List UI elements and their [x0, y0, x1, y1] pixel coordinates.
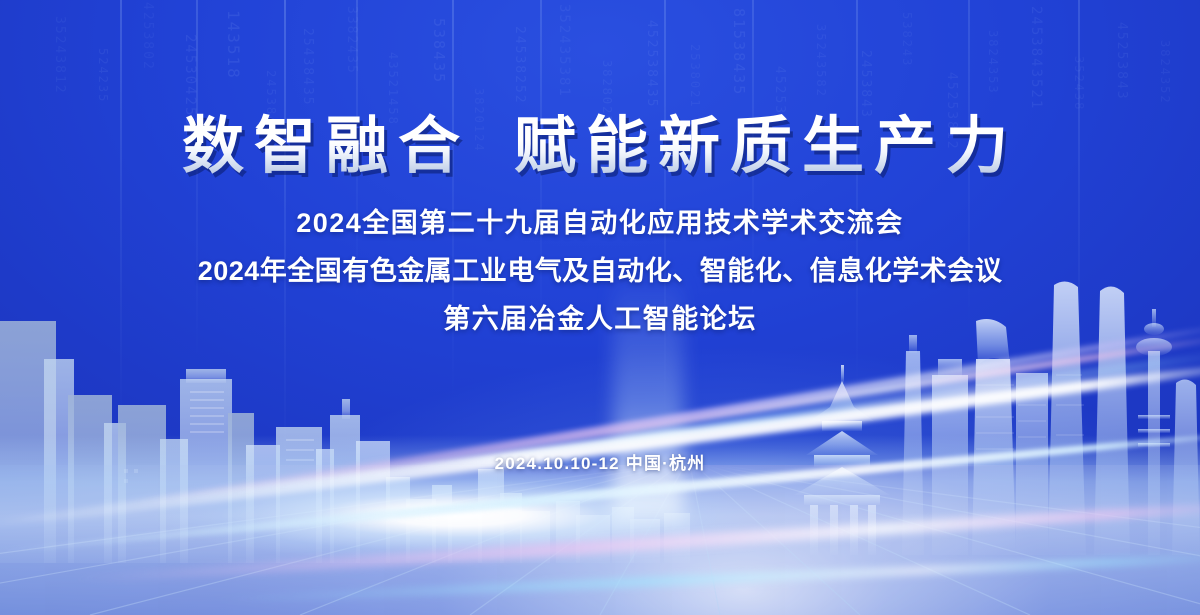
banner-content: 数智融合 赋能新质生产力 2024全国第二十九届自动化应用技术学术交流会 202…	[0, 0, 1200, 615]
conference-banner: 3524381252423542538022453042538143518245…	[0, 0, 1200, 615]
subtitle-line-2: 2024年全国有色金属工业电气及自动化、智能化、信息化学术会议	[198, 249, 1003, 288]
subtitle-line-1: 2024全国第二十九届自动化应用技术学术交流会	[296, 201, 904, 240]
date-location-text: 2024.10.10-12 中国·杭州	[0, 449, 1200, 474]
banner-headline: 数智融合 赋能新质生产力	[182, 112, 1018, 181]
subtitle-line-3: 第六届冶金人工智能论坛	[443, 297, 757, 336]
headline-phrase-1: 数智融合	[182, 112, 470, 181]
headline-phrase-2: 赋能新质生产力	[514, 112, 1018, 181]
